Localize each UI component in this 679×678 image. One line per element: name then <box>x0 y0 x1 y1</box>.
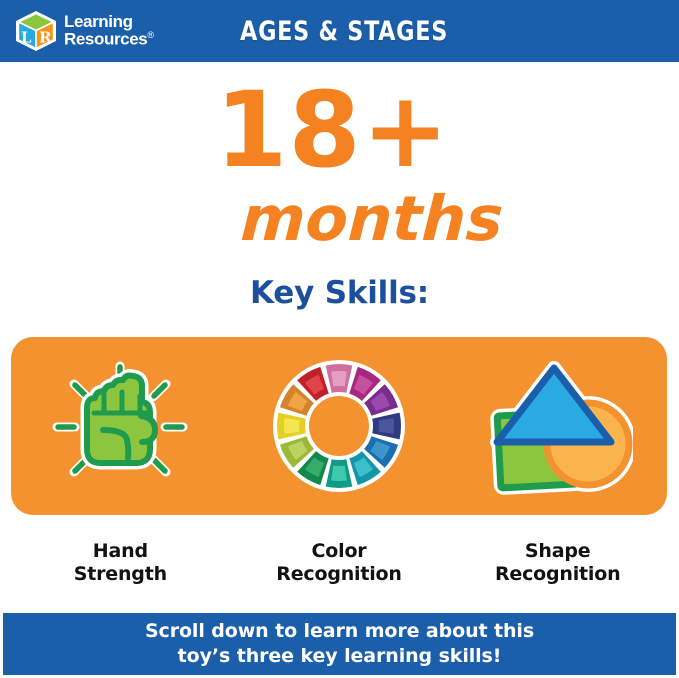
age-unit: months <box>240 188 505 250</box>
age-number: 18+ <box>0 78 679 182</box>
header-title-text: AGES & STAGES <box>240 16 448 47</box>
skill-icon-hand-strength <box>11 337 230 515</box>
color-wheel-segment-highlight-pink <box>331 371 347 386</box>
skill-label-shape-recognition: Shape Recognition <box>448 540 667 586</box>
footer-banner: Scroll down to learn more about this toy… <box>3 613 676 675</box>
age-block: 18+ months <box>0 78 679 250</box>
brand-logo[interactable]: L R Learning Resources® <box>14 9 154 53</box>
skill-label-line2: Strength <box>11 563 230 586</box>
learning-resources-cube-logo: L R <box>14 9 58 53</box>
color-wheel-icon <box>269 356 409 496</box>
skill-label-line1: Shape <box>448 540 667 563</box>
skill-label-line2: Recognition <box>448 563 667 586</box>
hand-fist-strength-icon <box>47 356 193 496</box>
footer-line1: Scroll down to learn more about this <box>145 619 534 644</box>
key-skills-heading: Key Skills: <box>0 275 679 311</box>
shapes-recognition-icon <box>483 356 633 496</box>
skill-icon-color-recognition <box>230 337 449 515</box>
svg-text:L: L <box>21 29 32 47</box>
skill-label-hand-strength: Hand Strength <box>11 540 230 586</box>
header-bar: L R Learning Resources® AGES & STAGES <box>0 0 679 62</box>
footer-banner-text: Scroll down to learn more about this toy… <box>145 619 534 669</box>
color-wheel-segment-highlight-indigo <box>379 418 394 434</box>
brand-wordmark: Learning Resources® <box>64 14 154 48</box>
skills-icon-panel <box>11 337 667 515</box>
skill-label-line2: Recognition <box>230 563 449 586</box>
skill-icon-shape-recognition <box>448 337 667 515</box>
color-wheel-segment-highlight-yellow <box>284 418 299 434</box>
registered-mark: ® <box>147 30 153 40</box>
color-wheel-segment-highlight-teal <box>331 466 347 481</box>
skill-label-color-recognition: Color Recognition <box>230 540 449 586</box>
skill-label-line1: Hand <box>11 540 230 563</box>
brand-wordmark-line2-text: Resources <box>64 29 147 48</box>
svg-text:R: R <box>39 29 52 47</box>
skill-labels-row: Hand Strength Color Recognition Shape Re… <box>11 540 667 586</box>
skill-label-line1: Color <box>230 540 449 563</box>
brand-wordmark-line1: Learning <box>64 14 154 30</box>
footer-line2: toy’s three key learning skills! <box>145 644 534 669</box>
brand-wordmark-line2: Resources® <box>64 31 154 48</box>
